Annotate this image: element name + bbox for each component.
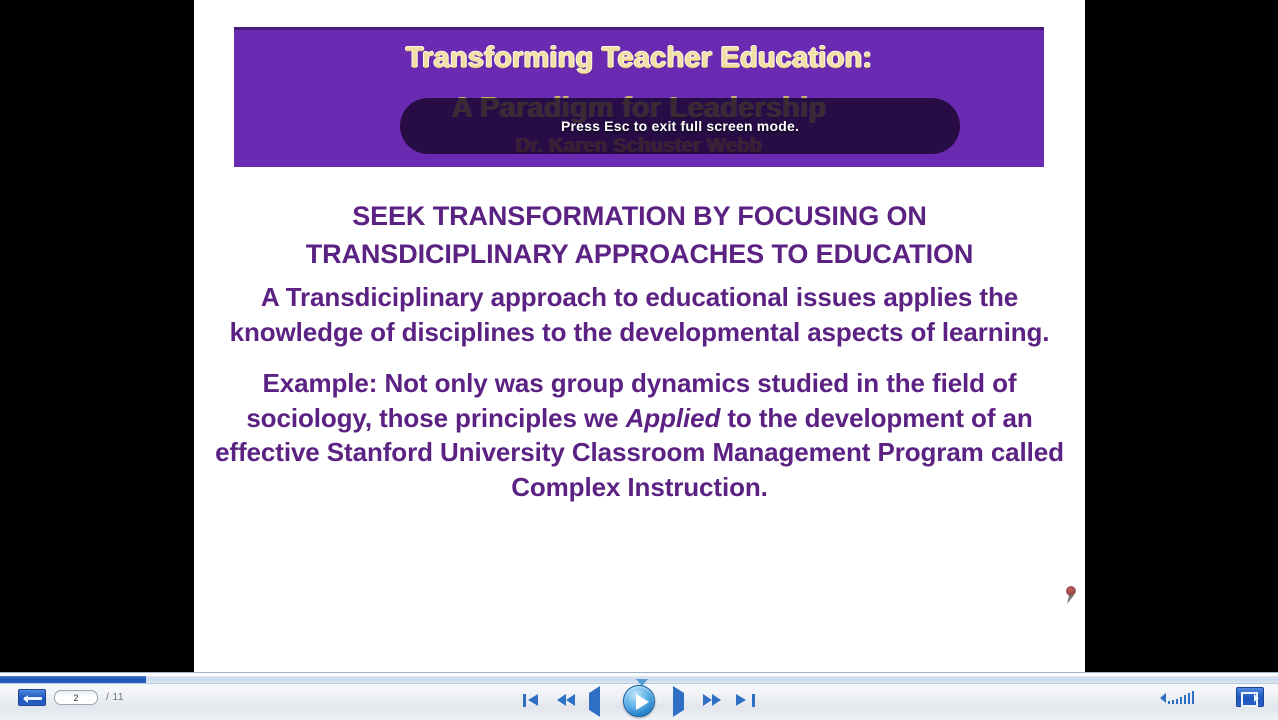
- toolbar-right-controls: [1160, 687, 1264, 707]
- fast-forward-icon[interactable]: [703, 693, 722, 709]
- fast-forward-triangle-2: [712, 694, 721, 706]
- slide-title-primary: Transforming Teacher Education:: [234, 42, 1044, 75]
- volume-bar-4: [1180, 697, 1182, 704]
- volume-bar-3: [1176, 699, 1178, 704]
- step-forward-icon[interactable]: [673, 693, 689, 709]
- slide-paragraph-example: Example: Not only was group dynamics stu…: [214, 366, 1065, 506]
- seek-bar-progress-fill: [0, 676, 146, 683]
- example-italic-word: Applied: [626, 403, 721, 433]
- rewind-icon[interactable]: [556, 693, 575, 709]
- exit-fullscreen-tooltip: Press Esc to exit full screen mode.: [400, 98, 960, 154]
- volume-bar-7: [1192, 691, 1194, 704]
- volume-slider-icon[interactable]: [1160, 688, 1194, 706]
- step-back-triangle: [589, 686, 600, 717]
- slide-body: SEEK TRANSFORMATION BY FOCUSING ON TRANS…: [214, 198, 1065, 505]
- step-back-icon[interactable]: [589, 693, 605, 709]
- skip-start-bar: [523, 694, 526, 707]
- volume-bar-1: [1168, 701, 1170, 704]
- slide-title-banner: Transforming Teacher Education: A Paradi…: [234, 27, 1044, 167]
- rewind-triangle-1: [557, 694, 566, 706]
- rewind-triangle-2: [566, 694, 575, 706]
- toolbar-left-controls: / 11: [18, 689, 124, 706]
- fast-forward-triangle-1: [703, 694, 712, 706]
- presentation-slide: Transforming Teacher Education: A Paradi…: [194, 0, 1085, 672]
- exit-fullscreen-tooltip-text: Press Esc to exit full screen mode.: [561, 118, 799, 134]
- volume-bar-5: [1184, 695, 1186, 704]
- skip-end-triangle: [736, 694, 746, 706]
- slide-paragraph-definition: A Transdiciplinary approach to education…: [214, 280, 1065, 350]
- video-viewport[interactable]: Transforming Teacher Education: A Paradi…: [0, 0, 1278, 672]
- player-toolbar: / 11: [0, 672, 1278, 720]
- slide-heading-line-1: SEEK TRANSFORMATION BY FOCUSING ON: [214, 198, 1065, 236]
- volume-bar-6: [1188, 693, 1190, 704]
- fullscreen-toggle-icon[interactable]: [1236, 687, 1264, 707]
- skip-start-triangle: [528, 694, 538, 706]
- slide-heading-line-2: TRANSDICIPLINARY APPROACHES TO EDUCATION: [214, 236, 1065, 274]
- slide-total-label: / 11: [106, 692, 124, 703]
- outline-panel-toggle-icon[interactable]: [18, 689, 46, 706]
- skip-end-bar: [752, 694, 755, 707]
- toolbar-transport-controls: [0, 685, 1278, 717]
- slide-number-input[interactable]: [54, 690, 98, 705]
- step-forward-triangle: [673, 686, 684, 717]
- skip-to-end-icon[interactable]: [736, 693, 755, 709]
- play-button[interactable]: [623, 685, 655, 717]
- mouse-pointer-icon: [1064, 586, 1082, 608]
- pointer-arrow: [1067, 594, 1077, 605]
- volume-bar-2: [1172, 700, 1174, 704]
- player-stage: Transforming Teacher Education: A Paradi…: [0, 0, 1278, 720]
- skip-to-start-icon[interactable]: [523, 693, 542, 709]
- speaker-icon: [1160, 693, 1166, 703]
